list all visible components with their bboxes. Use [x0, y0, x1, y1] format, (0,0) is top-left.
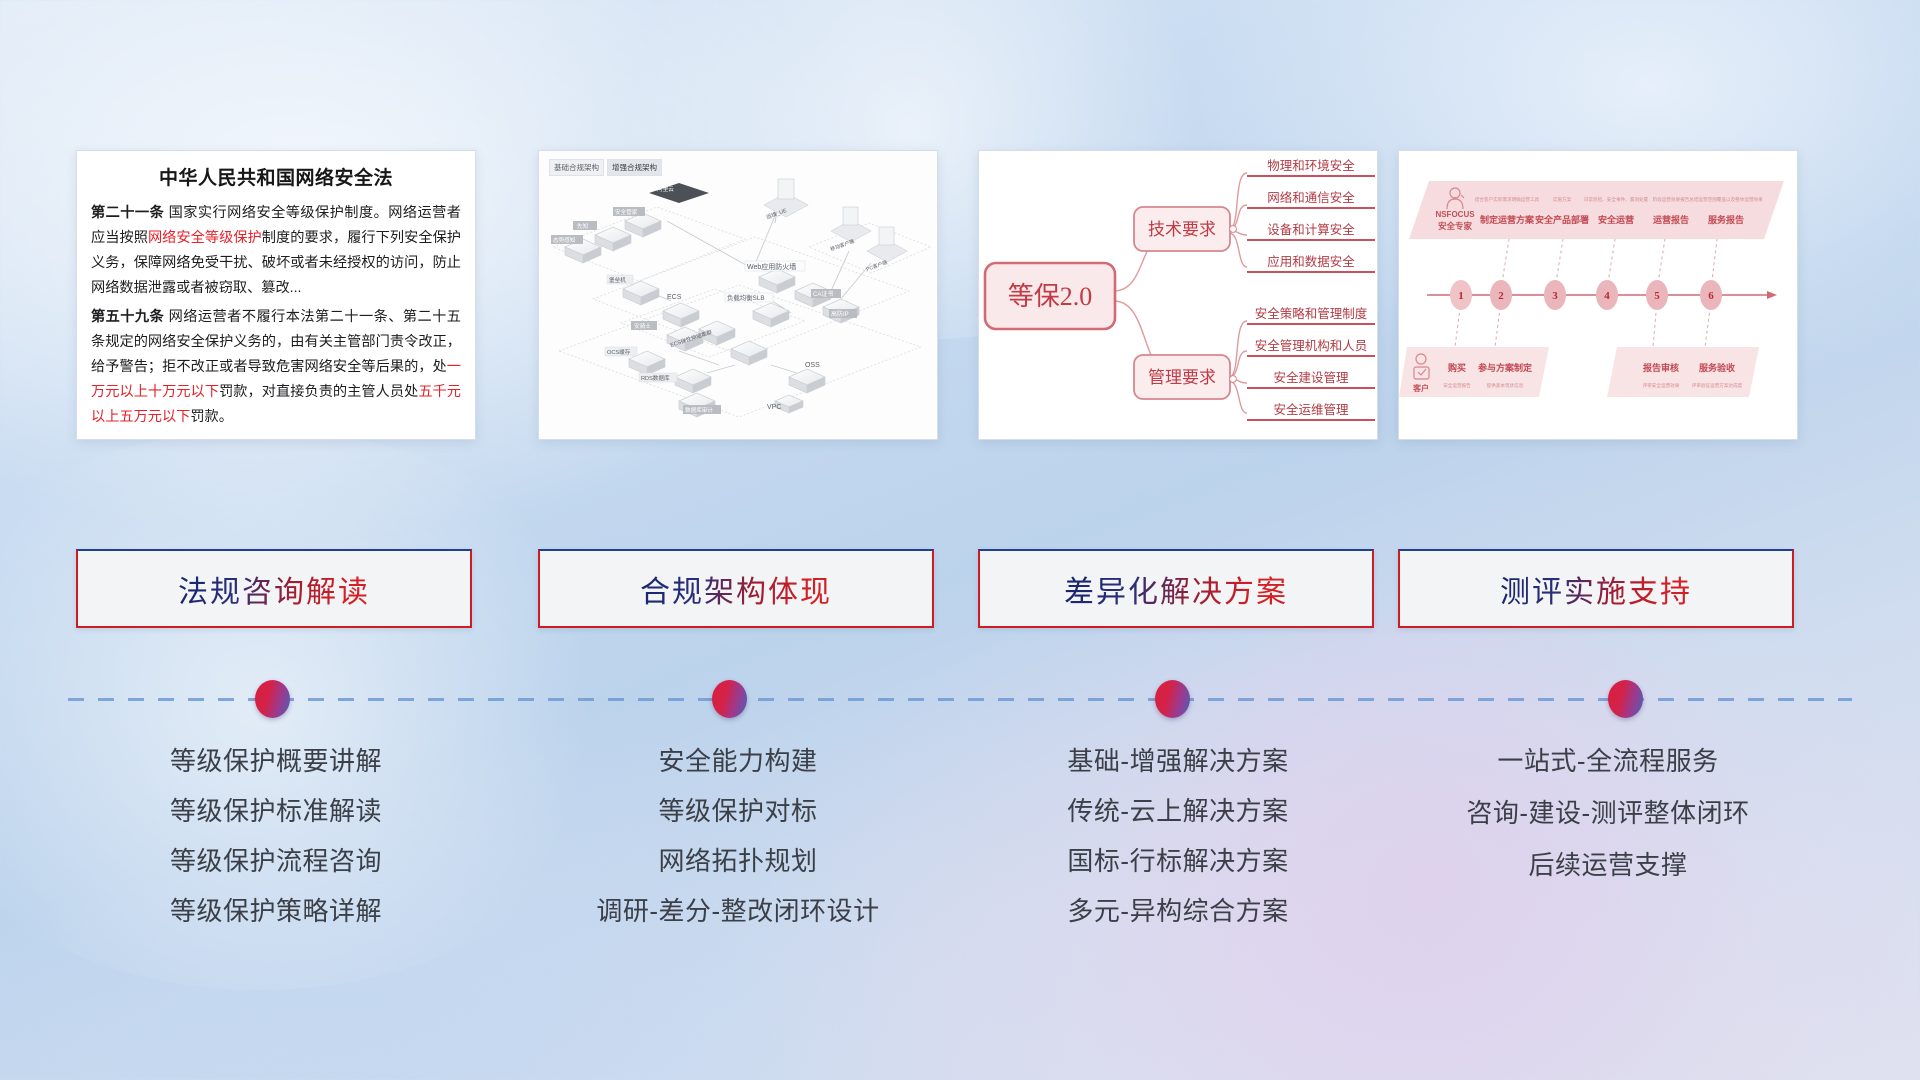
list-item: 等级保护概要讲解 — [76, 748, 476, 774]
svg-text:VPC: VPC — [767, 404, 781, 411]
stage-button-label: 合规架构体现 — [640, 567, 832, 611]
card-cloud-architecture[interactable]: 基础合规架构 增强合规架构 — [538, 150, 938, 440]
detail-column-4: 一站式-全流程服务 咨询-建设-测评整体闭环 后续运营支撑 — [1398, 748, 1818, 904]
svg-text:阿里云: 阿里云 — [657, 185, 674, 193]
svg-text:先知: 先知 — [577, 222, 589, 230]
svg-text:态势感知: 态势感知 — [553, 236, 576, 244]
svg-text:安全建设管理: 安全建设管理 — [1273, 370, 1349, 385]
svg-text:服务验收: 服务验收 — [1699, 362, 1735, 373]
svg-text:评审验证运营方案达成度: 评审验证运营方案达成度 — [1692, 382, 1743, 389]
svg-text:设备和计算安全: 设备和计算安全 — [1267, 222, 1355, 237]
preview-cards-row: 中华人民共和国网络安全法 第二十一条 国家实行网络安全等级保护制度。网络运营者应… — [0, 150, 1920, 450]
svg-text:阶段运营效果报告: 阶段运营效果报告 — [1653, 196, 1690, 203]
svg-text:物理和环境安全: 物理和环境安全 — [1267, 158, 1355, 173]
svg-text:高防IP: 高防IP — [831, 310, 849, 318]
list-item: 后续运营支撑 — [1398, 852, 1818, 878]
law-article-number: 第五十九条 — [91, 309, 164, 325]
law-title: 中华人民共和国网络安全法 — [91, 163, 461, 190]
svg-text:OSS: OSS — [805, 362, 820, 369]
stage-button-regulation-consulting[interactable]: 法规咨询解读 — [76, 549, 472, 628]
stage-buttons-row: 法规咨询解读 合规架构体现 差异化解决方案 测评实施支持 — [0, 549, 1920, 628]
card-nsfocus-process[interactable]: 123 456 ★ — [1398, 150, 1798, 440]
svg-text:安全运营报告: 安全运营报告 — [1443, 382, 1471, 389]
list-item: 等级保护标准解读 — [76, 798, 476, 824]
svg-text:制定运营方案: 制定运营方案 — [1480, 214, 1535, 225]
list-item: 安全能力构建 — [538, 748, 938, 774]
list-item: 咨询-建设-测评整体闭环 — [1398, 800, 1818, 826]
svg-text:ECS: ECS — [667, 294, 682, 301]
detail-column-2: 安全能力构建 等级保护对标 网络拓扑规划 调研-差分-整改闭环设计 — [538, 748, 938, 948]
timeline-node-2[interactable] — [712, 680, 747, 718]
mindmap-canvas: 等保2.0 技术要求 管理要求 物理和环境安全 网络和通信安全 设备和计算安全 … — [979, 151, 1378, 440]
law-document: 中华人民共和国网络安全法 第二十一条 国家实行网络安全等级保护制度。网络运营者应… — [77, 151, 475, 438]
list-item: 传统-云上解决方案 — [978, 798, 1378, 824]
svg-text:客户: 客户 — [1412, 383, 1429, 393]
svg-text:2: 2 — [1498, 290, 1504, 302]
architecture-canvas: 态势感知 先知 安全管家 阿里云 堡垒机 ECS 安骑士 OCS缓存 RDS数据… — [539, 151, 938, 440]
svg-text:提供基本现状信息: 提供基本现状信息 — [1487, 382, 1524, 389]
stage-button-differentiated-solution[interactable]: 差异化解决方案 — [978, 549, 1374, 628]
svg-text:4: 4 — [1604, 290, 1610, 302]
list-item: 等级保护对标 — [538, 798, 938, 824]
mindmap-root-label: 等保2.0 — [1008, 282, 1093, 311]
architecture-tabs: 基础合规架构 增强合规架构 — [549, 159, 662, 176]
svg-text:购买: 购买 — [1448, 362, 1466, 373]
svg-text:安全运维管理: 安全运维管理 — [1273, 402, 1349, 417]
svg-text:网络和通信安全: 网络和通信安全 — [1267, 190, 1355, 205]
law-paragraph-21: 第二十一条 国家实行网络安全等级保护制度。网络运营者应当按照网络安全等级保护制度… — [91, 201, 461, 301]
svg-text:1: 1 — [1458, 290, 1464, 302]
stage-button-assessment-support[interactable]: 测评实施支持 — [1398, 549, 1794, 628]
svg-text:负载均衡SLB: 负载均衡SLB — [727, 293, 765, 302]
svg-text:OCS缓存: OCS缓存 — [607, 348, 631, 356]
svg-text:日常巡检、安全事件、漏洞处置: 日常巡检、安全事件、漏洞处置 — [1584, 196, 1649, 203]
law-paragraph-59: 第五十九条 网络运营者不履行本法第二十一条、第二十五条规定的网络安全保护义务的，… — [91, 305, 461, 430]
law-run: 罚款，对直接负责的主管人员处 — [219, 384, 418, 400]
svg-text:★: ★ — [1453, 196, 1458, 202]
svg-text:安全管家: 安全管家 — [615, 208, 638, 216]
stage-button-label: 差异化解决方案 — [1064, 567, 1288, 611]
svg-text:堡垒机: 堡垒机 — [609, 276, 626, 284]
timeline-dashed-line — [68, 698, 1852, 701]
nsfocus-diagram: 123 456 ★ — [1399, 151, 1797, 439]
svg-text:3: 3 — [1552, 290, 1558, 302]
card-mindmap-dengbao[interactable]: 等保2.0 技术要求 管理要求 物理和环境安全 网络和通信安全 设备和计算安全 … — [978, 150, 1378, 440]
svg-text:CA证书: CA证书 — [813, 290, 833, 298]
list-item: 国标-行标解决方案 — [978, 848, 1378, 874]
svg-text:NSFOCUS: NSFOCUS — [1435, 210, 1475, 219]
svg-text:移动客户端: 移动客户端 — [829, 238, 855, 253]
law-run: 罚款。 — [190, 409, 233, 425]
svg-text:实施方案: 实施方案 — [1553, 196, 1572, 203]
svg-text:6: 6 — [1708, 290, 1714, 302]
list-item: 多元-异构综合方案 — [978, 898, 1378, 924]
list-item: 等级保护策略详解 — [76, 898, 476, 924]
svg-text:参与方案制定: 参与方案制定 — [1478, 362, 1533, 373]
list-item: 一站式-全流程服务 — [1398, 748, 1818, 774]
svg-text:PC客户端: PC客户端 — [865, 259, 888, 273]
svg-text:5: 5 — [1654, 290, 1660, 302]
stage-button-compliance-architecture[interactable]: 合规架构体现 — [538, 549, 934, 628]
svg-text:Web应用防火墙: Web应用防火墙 — [747, 262, 796, 271]
svg-text:应用和数据安全: 应用和数据安全 — [1267, 254, 1355, 269]
list-item: 调研-差分-整改闭环设计 — [538, 898, 938, 924]
card-cybersecurity-law[interactable]: 中华人民共和国网络安全法 第二十一条 国家实行网络安全等级保护制度。网络运营者应… — [76, 150, 476, 440]
svg-text:安全产品部署: 安全产品部署 — [1535, 214, 1589, 225]
svg-text:安全运营: 安全运营 — [1598, 214, 1634, 225]
svg-text:安骑士: 安骑士 — [634, 322, 651, 330]
svg-text:安全管理机构和人员: 安全管理机构和人员 — [1255, 338, 1368, 353]
list-item: 基础-增强解决方案 — [978, 748, 1378, 774]
list-item: 网络拓扑规划 — [538, 848, 938, 874]
timeline-node-1[interactable] — [255, 680, 290, 718]
svg-text:RDS数据库: RDS数据库 — [641, 374, 670, 382]
svg-text:服务报告: 服务报告 — [1708, 214, 1744, 225]
mindmap-branch-technical: 技术要求 — [1148, 220, 1216, 239]
svg-text:运营报告: 运营报告 — [1653, 214, 1689, 225]
svg-text:安全策略和管理制度: 安全策略和管理制度 — [1255, 306, 1368, 321]
architecture-tab-basic[interactable]: 基础合规架构 — [549, 159, 604, 176]
svg-text:总结运营范围覆盖以及整体运营效果: 总结运营范围覆盖以及整体运营效果 — [1689, 196, 1763, 203]
list-item: 等级保护流程咨询 — [76, 848, 476, 874]
timeline-node-3[interactable] — [1155, 680, 1190, 718]
detail-lists-row: 等级保护概要讲解 等级保护标准解读 等级保护流程咨询 等级保护策略详解 安全能力… — [0, 748, 1920, 988]
mindmap-diagram: 等保2.0 技术要求 管理要求 物理和环境安全 网络和通信安全 设备和计算安全 … — [979, 151, 1377, 439]
slide-stage: 中华人民共和国网络安全法 第二十一条 国家实行网络安全等级保护制度。网络运营者应… — [0, 0, 1920, 1080]
architecture-diagram: 基础合规架构 增强合规架构 — [539, 151, 937, 439]
mindmap-branch-management: 管理要求 — [1148, 368, 1216, 387]
law-article-number: 第二十一条 — [91, 205, 164, 221]
svg-text:数据库审计: 数据库审计 — [685, 406, 713, 414]
stage-button-label: 法规咨询解读 — [178, 567, 370, 611]
svg-text:安全专家: 安全专家 — [1438, 221, 1473, 231]
architecture-tab-enhanced[interactable]: 增强合规架构 — [607, 159, 662, 176]
svg-text:报告审核: 报告审核 — [1643, 362, 1679, 373]
law-run-highlight: 网络安全等级保护 — [148, 230, 262, 246]
stage-button-label: 测评实施支持 — [1500, 567, 1692, 611]
detail-column-1: 等级保护概要讲解 等级保护标准解读 等级保护流程咨询 等级保护策略详解 — [76, 748, 476, 948]
nsfocus-canvas: 123 456 ★ — [1399, 151, 1798, 440]
timeline-node-4[interactable] — [1608, 680, 1643, 718]
timeline — [0, 672, 1920, 728]
detail-column-3: 基础-增强解决方案 传统-云上解决方案 国标-行标解决方案 多元-异构综合方案 — [978, 748, 1378, 948]
svg-text:评审安全运营效果: 评审安全运营效果 — [1643, 382, 1680, 389]
svg-text:结合客户实际需求明确运营工具: 结合客户实际需求明确运营工具 — [1475, 196, 1540, 203]
